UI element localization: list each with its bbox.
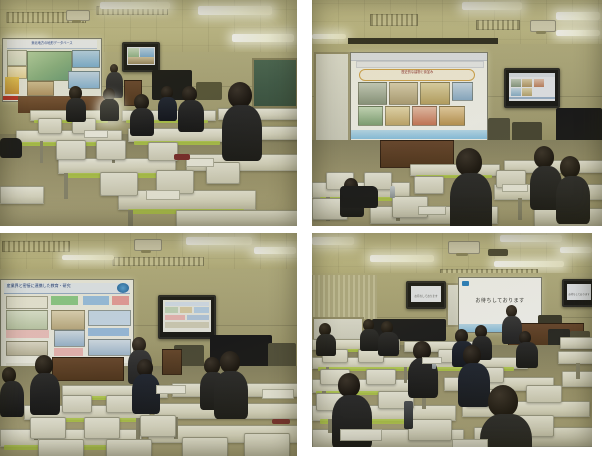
ceiling-projector — [66, 10, 90, 21]
slide-title-text-1: 東北地方の地形データベース — [7, 40, 97, 46]
ceiling-projector — [530, 20, 556, 32]
blackboard — [252, 58, 297, 108]
slide-title-text-2: 歴史的な建物と街並み — [360, 70, 474, 75]
side-lectern — [162, 349, 182, 375]
photo-bottom-right[interactable]: お待ちしております お待ちしております お待ちしております — [312, 233, 592, 447]
side-monitor-left: お待ちしております — [406, 281, 446, 309]
water-bottle — [404, 401, 413, 429]
whiteboard — [314, 52, 350, 142]
window-curtain — [312, 275, 377, 319]
wall-monitor — [158, 295, 216, 339]
photo-top-right[interactable]: 歴史的な建物と街並み — [312, 0, 602, 226]
water-bottle — [390, 186, 395, 198]
side-monitor-text-right: お待ちしております — [567, 292, 591, 296]
wall-monitor — [122, 42, 160, 72]
wall-monitor — [504, 68, 560, 108]
lectern — [52, 357, 124, 381]
side-monitor-text-left: お待ちしております — [411, 294, 441, 298]
slide-title-text-3: 産業界と密接に連携した教育・研究 — [4, 283, 131, 290]
projection-screen: 歴史的な建物と街並み — [350, 52, 488, 148]
side-monitor-right: お待ちしております — [562, 279, 592, 307]
slide-main-text: お待ちしております — [459, 297, 541, 304]
photo-bottom-left[interactable]: 産業界と密接に連携した教育・研究 — [0, 233, 297, 456]
ceiling-projector — [134, 239, 162, 251]
photo-top-left[interactable]: 東北地方の地形データベース — [0, 0, 297, 226]
photo-grid: 東北地方の地形データベース — [0, 0, 602, 456]
projection-screen: 東北地方の地形データベース — [2, 38, 102, 102]
ceiling-projector — [448, 241, 480, 254]
